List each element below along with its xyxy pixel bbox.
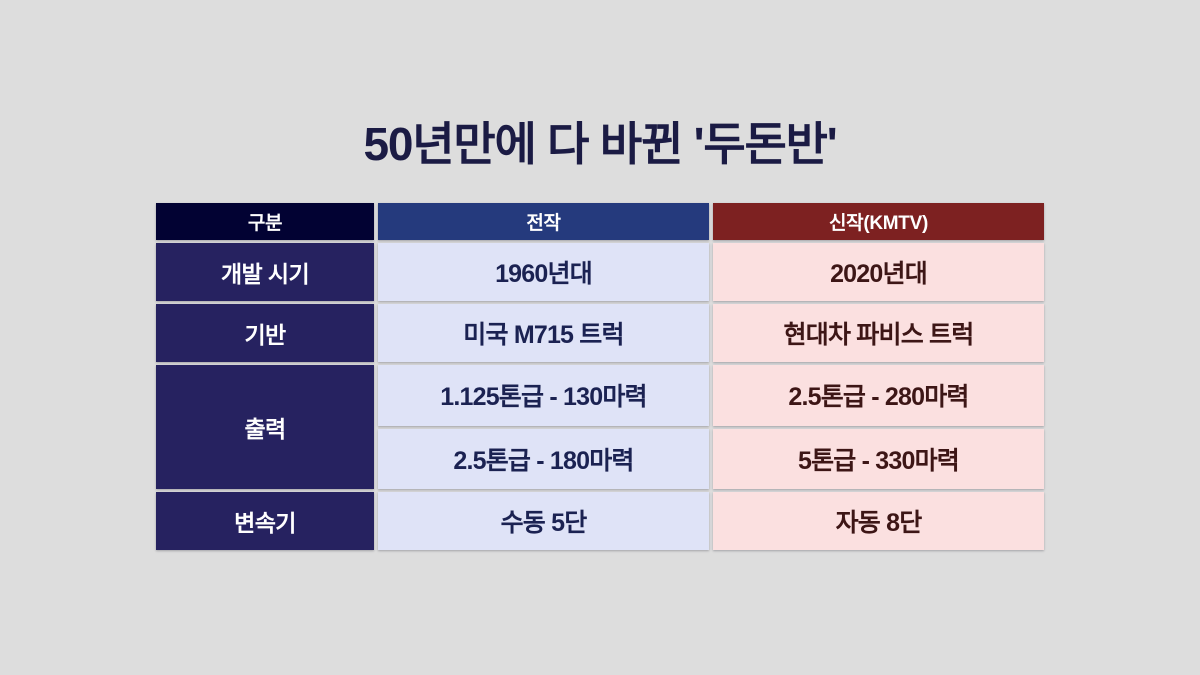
row-label-base-platform: 기반 [156,304,374,362]
table-row: 출력 1.125톤급 - 130마력 2.5톤급 - 280마력 [156,365,1044,426]
row-label-transmission: 변속기 [156,492,374,550]
row-label-power-output: 출력 [156,365,374,489]
table-body: 개발 시기 1960년대 2020년대 기반 미국 M715 트럭 현대차 파비… [156,243,1044,550]
column-header-old-model: 전작 [378,203,709,240]
comparison-table: 구분 전작 신작(KMTV) 개발 시기 1960년대 2020년대 기반 미국… [152,200,1048,553]
table-row: 기반 미국 M715 트럭 현대차 파비스 트럭 [156,304,1044,362]
table-header: 구분 전작 신작(KMTV) [156,203,1044,240]
table-row: 변속기 수동 5단 자동 8단 [156,492,1044,550]
cell-new-power-output-2: 5톤급 - 330마력 [713,429,1044,490]
column-header-new-model: 신작(KMTV) [713,203,1044,240]
column-header-category: 구분 [156,203,374,240]
cell-old-power-output-1: 1.125톤급 - 130마력 [378,365,709,426]
cell-old-transmission: 수동 5단 [378,492,709,550]
cell-new-power-output-1: 2.5톤급 - 280마력 [713,365,1044,426]
row-label-development-period: 개발 시기 [156,243,374,301]
page-title: 50년만에 다 바뀐 '두돈반' [0,118,1200,171]
infographic-root: 50년만에 다 바뀐 '두돈반' 구분 전작 신작(KMTV) 개발 시기 19… [0,0,1200,675]
table-row: 개발 시기 1960년대 2020년대 [156,243,1044,301]
cell-new-development-period: 2020년대 [713,243,1044,301]
cell-new-base-platform: 현대차 파비스 트럭 [713,304,1044,362]
cell-old-development-period: 1960년대 [378,243,709,301]
cell-old-power-output-2: 2.5톤급 - 180마력 [378,429,709,490]
cell-new-transmission: 자동 8단 [713,492,1044,550]
cell-old-base-platform: 미국 M715 트럭 [378,304,709,362]
table-header-row: 구분 전작 신작(KMTV) [156,203,1044,240]
comparison-table-container: 구분 전작 신작(KMTV) 개발 시기 1960년대 2020년대 기반 미국… [152,200,1048,553]
